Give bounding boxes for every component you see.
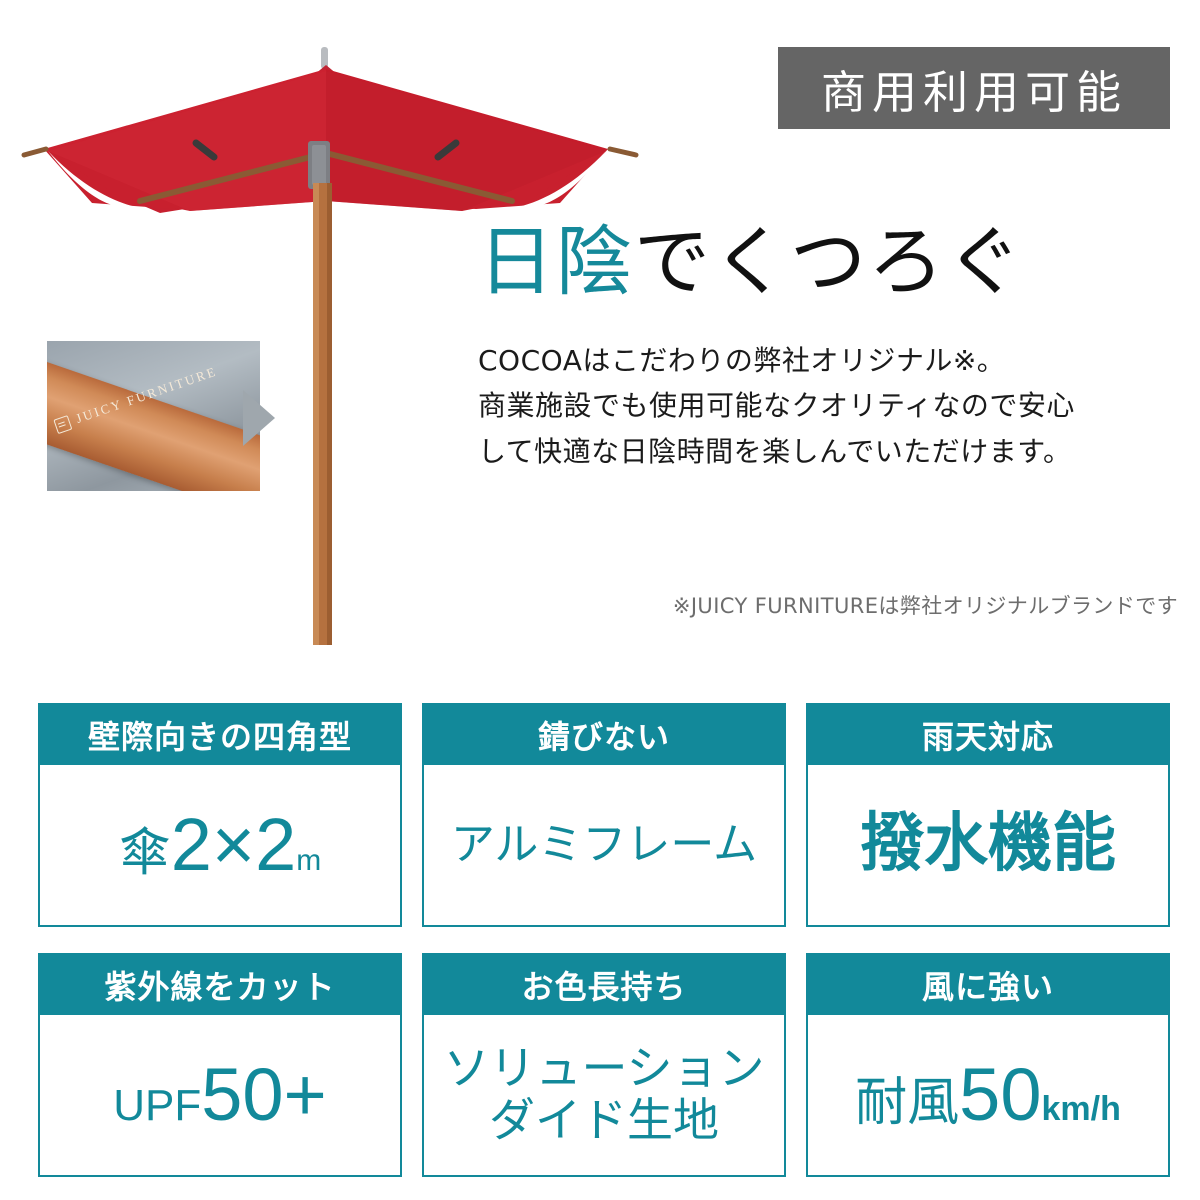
hero-section: 商用利用可能 JUICY FURNITURE 日陰でくつろぐ COCOAはこだわ… [0,0,1200,680]
commercial-use-badge: 商用利用可能 [778,47,1170,129]
feature-card-frame-body: アルミフレーム [424,765,784,925]
feature-card-frame-value: アルミフレーム [451,820,757,869]
feature-card-grid: 壁際向きの四角型 傘2×2m 錆びない アルミフレーム 雨天対応 撥水機能 紫外… [38,703,1170,1177]
feature-card-size-prefix: 傘 [119,824,171,882]
commercial-use-badge-label: 商用利用可能 [821,56,1127,121]
hero-description-line-3: して快適な日陰時間を楽しんでいただけます。 [478,429,1178,474]
page-title: 日陰でくつろぐ [478,222,1178,302]
feature-card-size-unit: m [296,844,321,878]
page-title-rest: でくつろぐ [634,217,1024,306]
feature-card-upf: 紫外線をカット UPF50+ [38,953,402,1177]
feature-card-fabric-line-1: ソリューション [443,1043,764,1095]
inset-detail-photo: JUICY FURNITURE [47,341,260,491]
feature-card-wind-unit: km/h [1041,1090,1120,1128]
hero-footnote: ※JUICY FURNITUREは弊社オリジナルブランドです [478,590,1178,620]
feature-card-water-repellent-body: 撥水機能 [808,765,1168,925]
page-title-accent: 日陰 [478,217,634,306]
hero-description: COCOAはこだわりの弊社オリジナル※。 商業施設でも使用可能なクオリティなので… [478,338,1178,474]
feature-card-size-body: 傘2×2m [40,765,400,925]
feature-card-wind-body: 耐風50km/h [808,1015,1168,1175]
feature-card-wind-header: 風に強い [808,955,1168,1015]
feature-card-size-header: 壁際向きの四角型 [40,705,400,765]
feature-card-upf-body: UPF50+ [40,1015,400,1175]
feature-card-upf-header: 紫外線をカット [40,955,400,1015]
feature-card-fabric-line-2: ダイド生地 [443,1095,764,1147]
feature-card-wind-value: 50 [959,1054,1041,1137]
feature-card-water-repellent: 雨天対応 撥水機能 [806,703,1170,927]
feature-card-water-repellent-header: 雨天対応 [808,705,1168,765]
feature-card-upf-value: 50+ [201,1054,327,1137]
hero-description-line-2: 商業施設でも使用可能なクオリティなので安心 [478,383,1178,428]
feature-card-size: 壁際向きの四角型 傘2×2m [38,703,402,927]
hero-description-line-1: COCOAはこだわりの弊社オリジナル※。 [478,338,1178,383]
feature-card-frame-header: 錆びない [424,705,784,765]
feature-card-wind: 風に強い 耐風50km/h [806,953,1170,1177]
feature-card-fabric-header: お色長持ち [424,955,784,1015]
feature-card-water-repellent-value: 撥水機能 [860,809,1116,881]
feature-card-size-value: 2×2 [171,804,297,887]
callout-arrow-icon [243,390,275,446]
product-marketing-page: 商用利用可能 JUICY FURNITURE 日陰でくつろぐ COCOAはこだわ… [0,0,1200,1200]
feature-card-wind-prefix: 耐風 [855,1074,959,1132]
feature-card-upf-prefix: UPF [113,1081,201,1130]
feature-card-frame: 錆びない アルミフレーム [422,703,786,927]
feature-card-fabric-body: ソリューション ダイド生地 [424,1015,784,1175]
hero-copy-block: 日陰でくつろぐ COCOAはこだわりの弊社オリジナル※。 商業施設でも使用可能な… [478,222,1178,474]
feature-card-fabric: お色長持ち ソリューション ダイド生地 [422,953,786,1177]
